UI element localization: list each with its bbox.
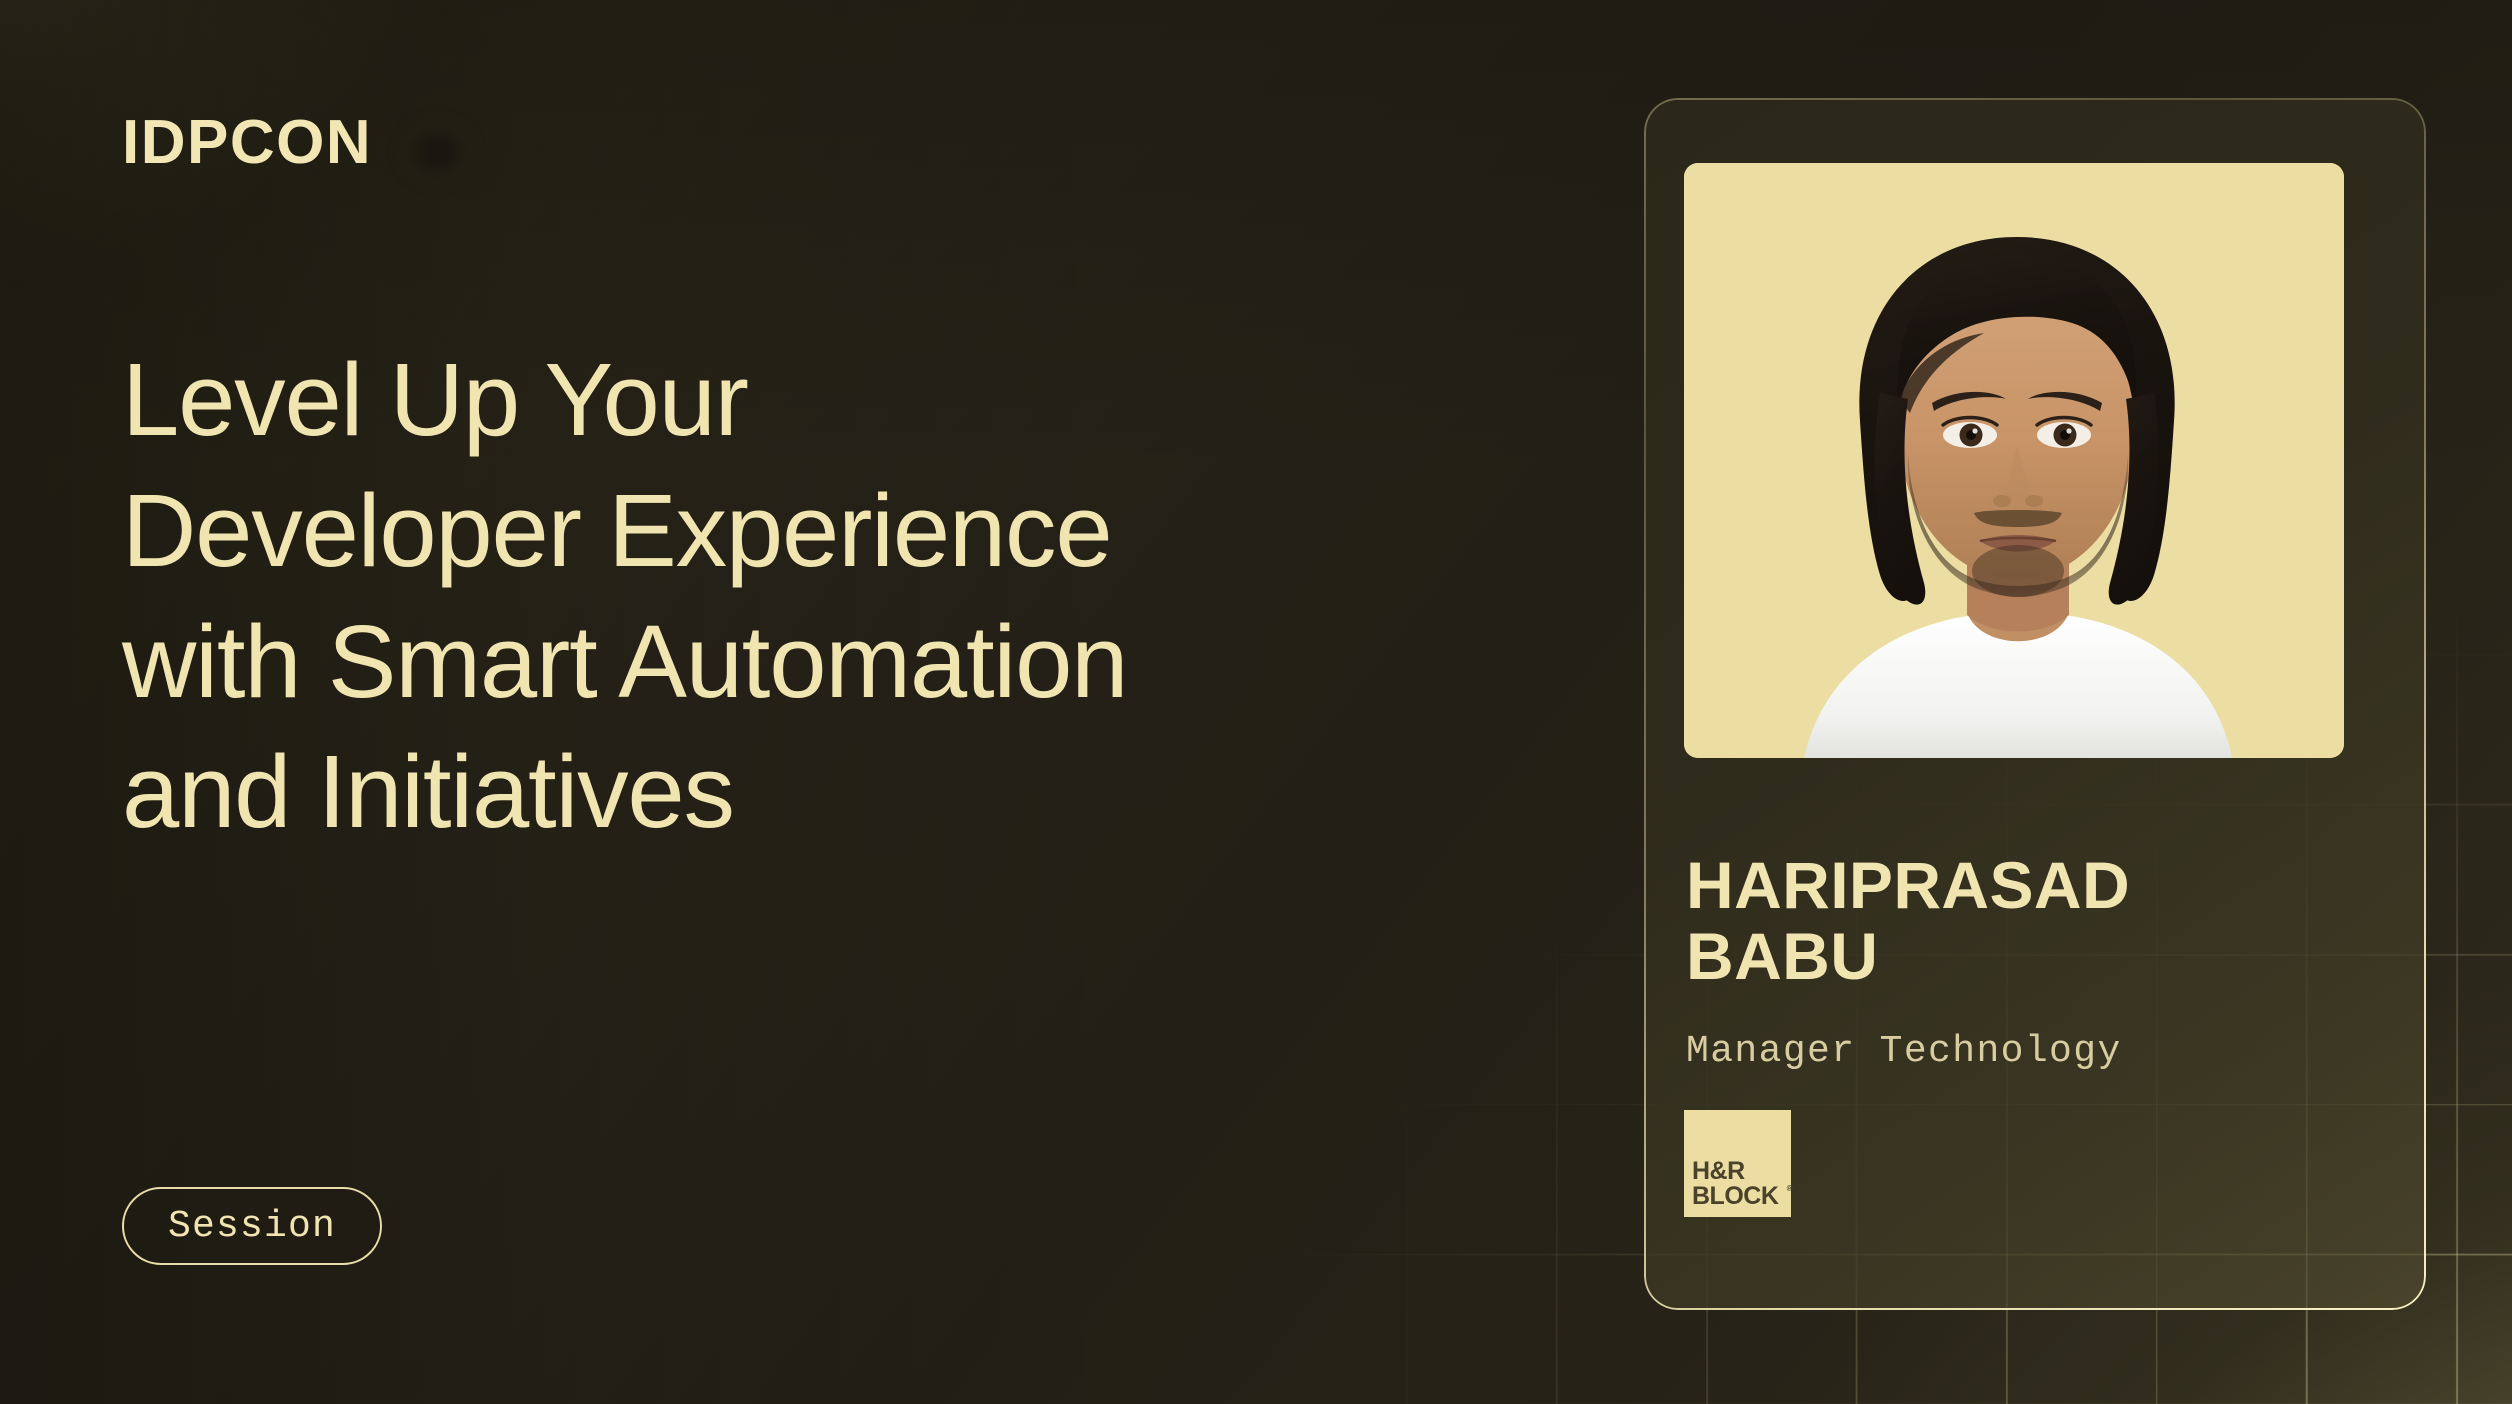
logo-blur-dot-icon <box>400 120 474 184</box>
session-title-line-4: and Initiatives <box>122 727 1512 858</box>
speaker-name: HARIPRASAD BABU <box>1686 850 2386 993</box>
idpcon-logo: IDPCON <box>122 112 372 174</box>
company-logo-line-2: BLOCK® <box>1692 1184 1791 1209</box>
speaker-name-line-2: BABU <box>1686 921 2386 992</box>
session-title-line-3: with Smart Automation <box>122 597 1512 728</box>
speaker-photo <box>1684 163 2344 758</box>
company-logo-line-2-text: BLOCK <box>1692 1182 1778 1210</box>
session-title-line-1: Level Up Your <box>122 335 1512 466</box>
session-badge[interactable]: Session <box>122 1187 382 1265</box>
left-content-column: IDPCON Level Up Your Developer Experienc… <box>122 0 1542 1404</box>
idpcon-logo-text: IDPCON <box>122 108 372 177</box>
session-title: Level Up Your Developer Experience with … <box>122 335 1512 858</box>
session-badge-label: Session <box>168 1205 336 1248</box>
speaker-card[interactable]: HARIPRASAD BABU Manager Technology H&R B… <box>1644 98 2426 1310</box>
slide-canvas: IDPCON Level Up Your Developer Experienc… <box>0 0 2512 1404</box>
speaker-portrait-illustration <box>1684 163 2344 758</box>
company-logo-hr-block: H&R BLOCK® <box>1684 1110 1791 1217</box>
session-title-line-2: Developer Experience <box>122 466 1512 597</box>
registered-mark-icon: ® <box>1787 1185 1792 1193</box>
speaker-name-line-1: HARIPRASAD <box>1686 850 2386 921</box>
speaker-role: Manager Technology <box>1686 1030 2122 1073</box>
company-logo-line-1: H&R <box>1692 1159 1791 1184</box>
